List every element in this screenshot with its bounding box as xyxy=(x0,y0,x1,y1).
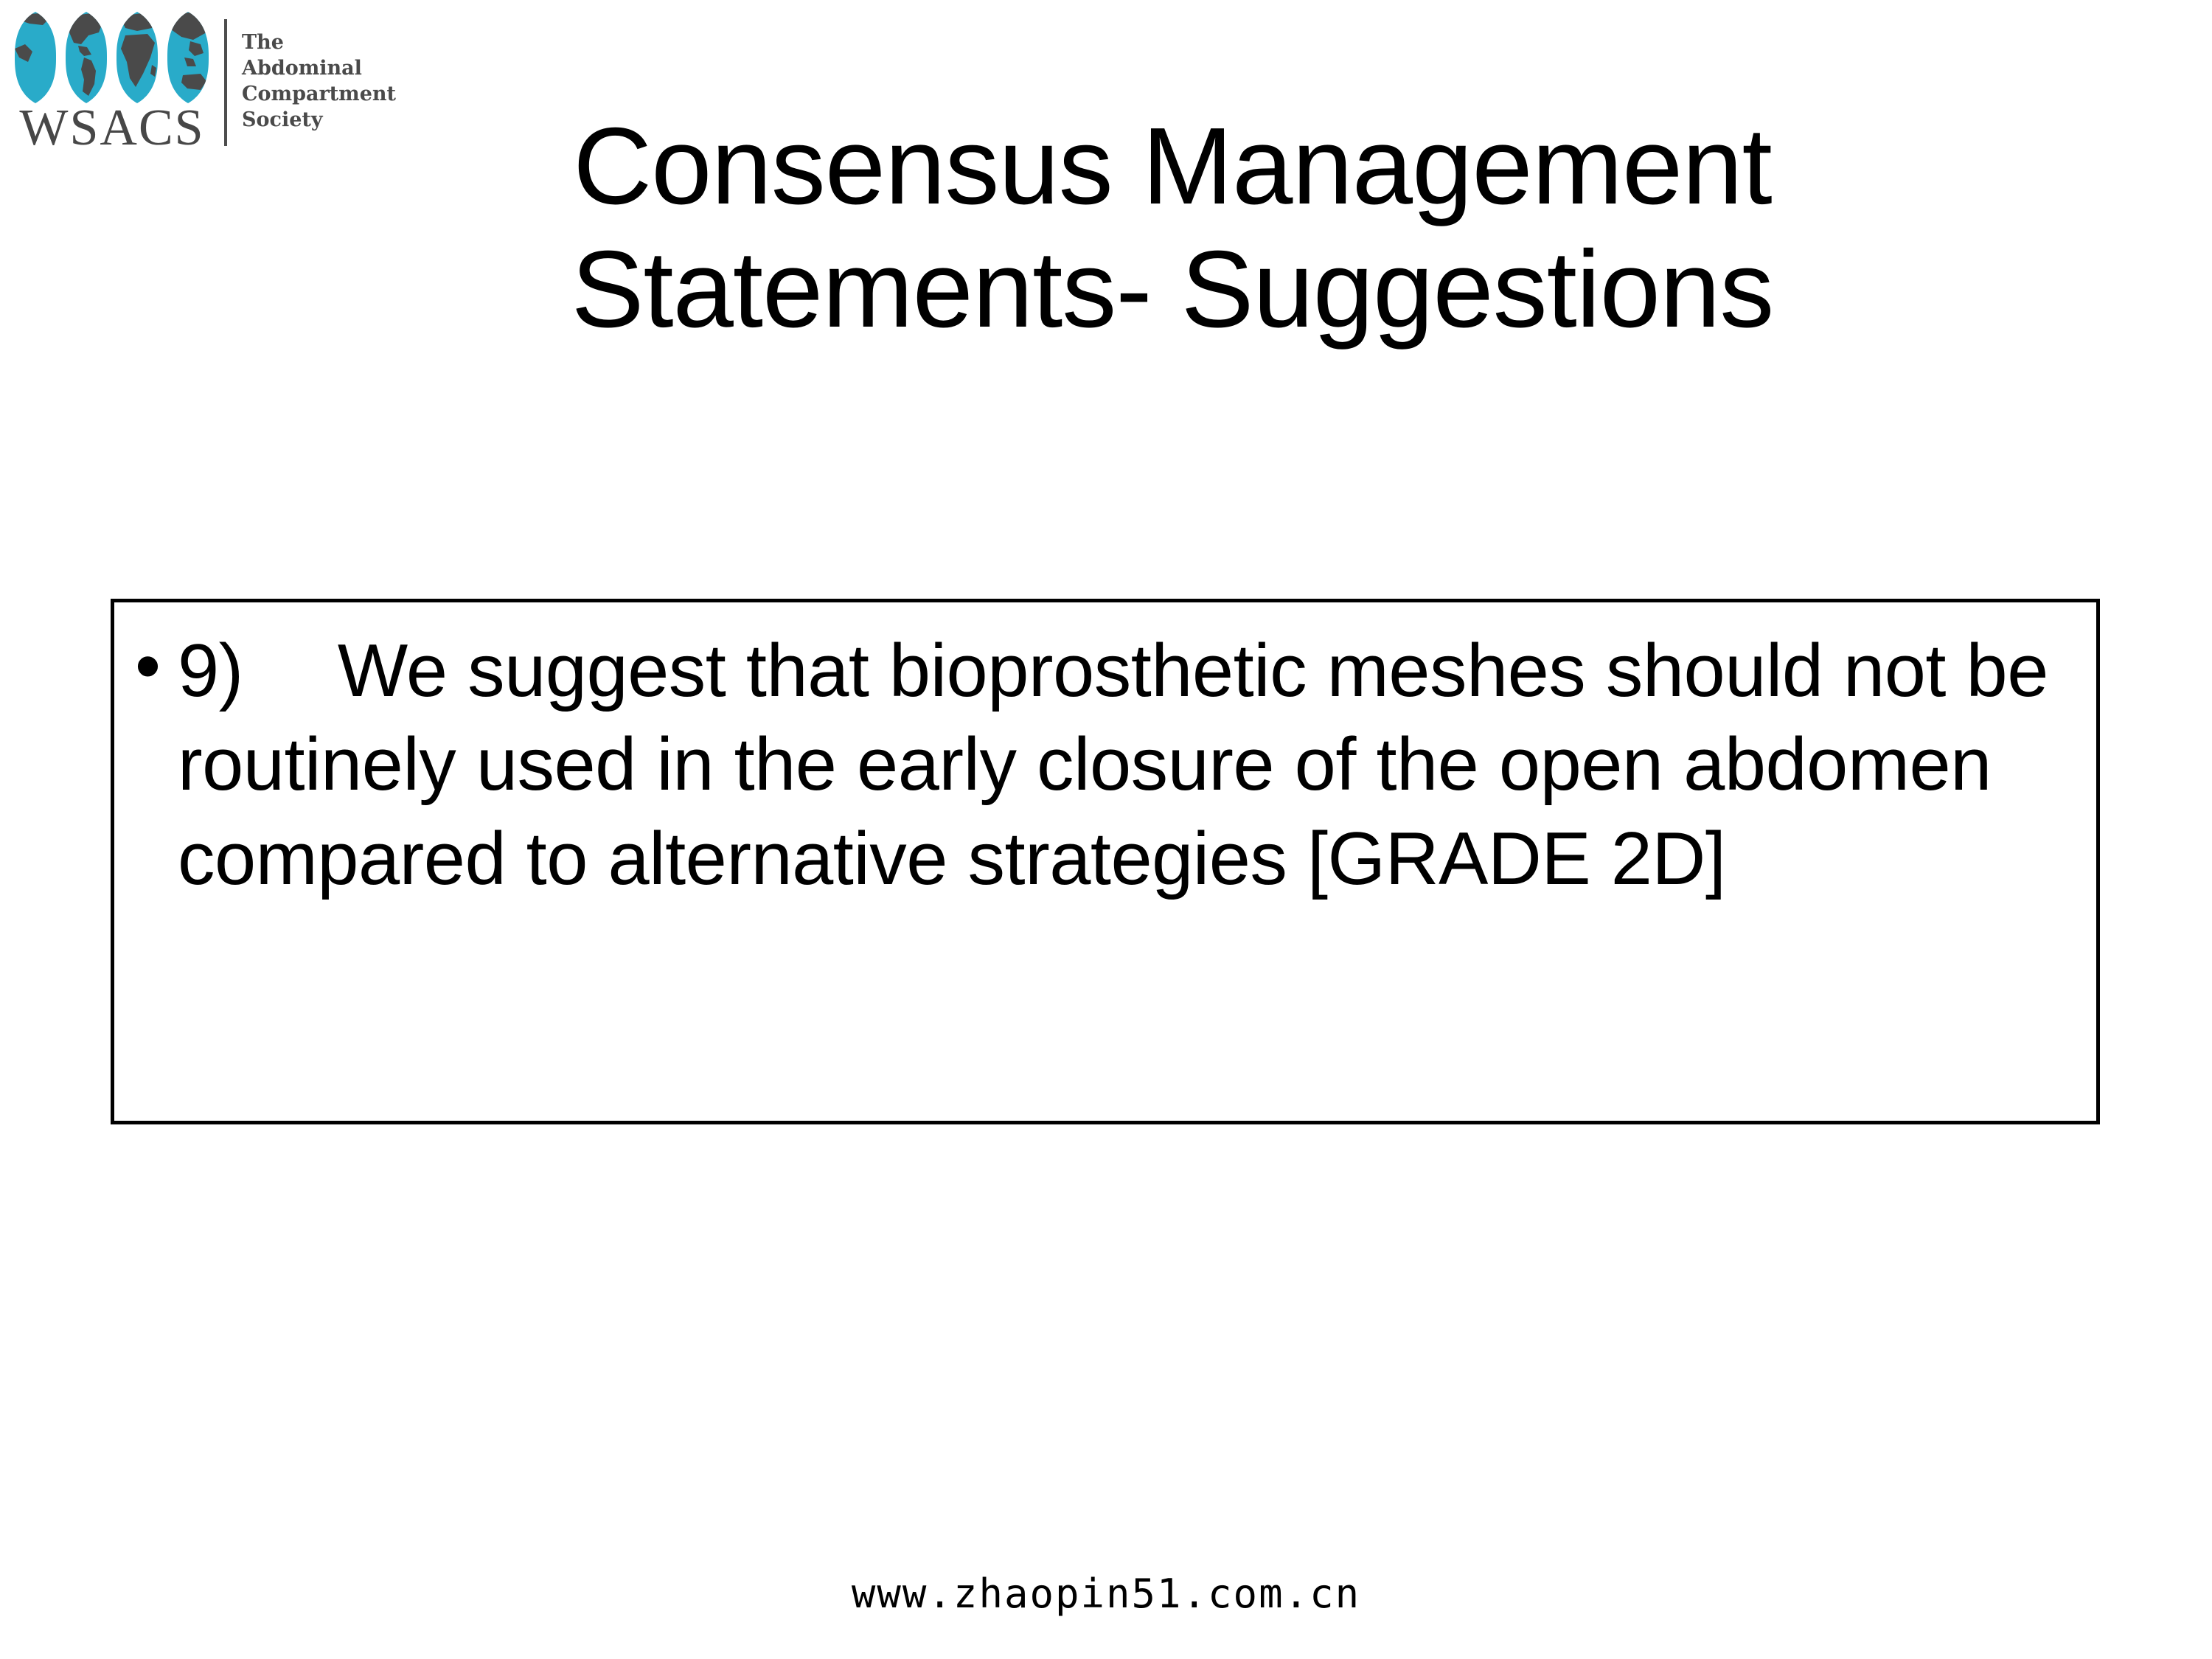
bullet-dot-icon: • xyxy=(135,625,178,703)
slide-title-line-1: Consensus Management xyxy=(310,105,2035,228)
logo-tagline-line-3: Compartment xyxy=(242,81,396,107)
slide-canvas: WSACS The Abdominal Compartment Society … xyxy=(0,0,2212,1659)
footer-watermark: www.zhaopin51.com.cn xyxy=(0,1571,2212,1617)
globe-icon xyxy=(10,10,214,105)
slide-title: Consensus Management Statements- Suggest… xyxy=(310,105,2035,351)
logo-divider xyxy=(224,19,227,146)
logo-mark: WSACS xyxy=(10,10,214,154)
statement-text: 9) We suggest that bioprosthetic meshes … xyxy=(178,625,2079,906)
slide-title-line-2: Statements- Suggestions xyxy=(310,228,2035,351)
bullet-list-item: • 9) We suggest that bioprosthetic meshe… xyxy=(135,625,2079,906)
logo-tagline-line-2: Abdominal xyxy=(242,55,396,81)
wsacs-wordmark: WSACS xyxy=(19,103,204,154)
statement-box: • 9) We suggest that bioprosthetic meshe… xyxy=(111,599,2100,1124)
logo-tagline-line-1: The xyxy=(242,29,396,55)
